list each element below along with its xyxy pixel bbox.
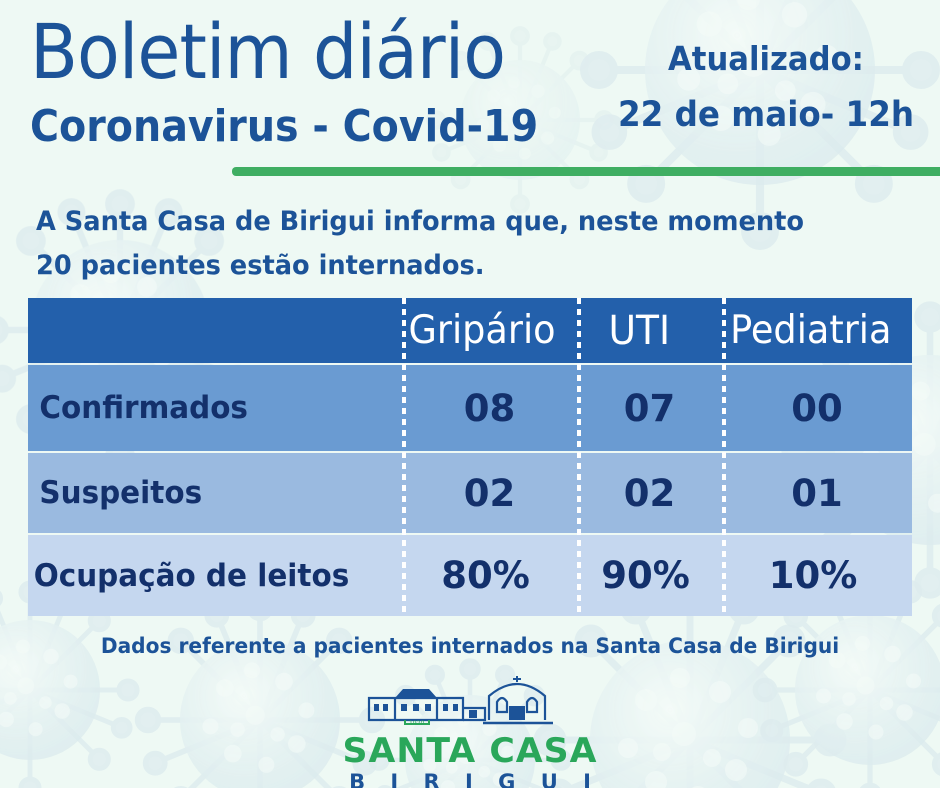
row-label-ocupacao: Ocupação de leitos	[28, 558, 380, 594]
cell-suspeitos-uti: 02	[577, 472, 722, 515]
logo-primary-text: SANTA CASA	[342, 732, 597, 770]
cell-confirmados-gripario: 08	[402, 387, 577, 430]
column-separator-3	[722, 298, 726, 616]
green-divider	[232, 167, 940, 176]
column-separator-1	[402, 298, 406, 616]
logo-building-year: 1920	[409, 720, 424, 727]
table-header-gripario: Gripário	[401, 308, 563, 353]
logo-secondary-text: B I R I G U I	[340, 770, 600, 788]
cell-confirmados-pediatria: 00	[722, 387, 912, 430]
table-header-uti: UTI	[572, 308, 706, 354]
page-title: Boletim diário	[30, 14, 505, 90]
table-row: Confirmados 08 07 00	[28, 365, 912, 451]
cell-ocupacao-pediatria: 10%	[718, 554, 908, 597]
table-header-row: Gripário UTI Pediatria	[28, 298, 912, 363]
cell-confirmados-uti: 07	[577, 387, 722, 430]
column-separator-2	[577, 298, 581, 616]
hospital-building-icon: 1920	[365, 676, 575, 732]
cell-suspeitos-pediatria: 01	[722, 472, 912, 515]
table-header-pediatria: Pediatria	[717, 308, 906, 353]
updated-timestamp: 22 de maio- 12h	[608, 96, 924, 134]
row-label-suspeitos: Suspeitos	[28, 475, 383, 511]
cell-ocupacao-gripario: 80%	[398, 554, 573, 597]
santa-casa-logo: 1920 SANTA CASA B I R I G U I	[0, 676, 940, 788]
table-row: Ocupação de leitos 80% 90% 10%	[28, 535, 912, 616]
page-subtitle: Coronavirus - Covid-19	[30, 104, 538, 150]
row-label-confirmados: Confirmados	[28, 390, 383, 426]
cell-suspeitos-gripario: 02	[402, 472, 577, 515]
poster-canvas: Boletim diário Coronavirus - Covid-19 At…	[0, 0, 940, 788]
occupancy-table: Gripário UTI Pediatria Confirmados 08 07…	[28, 298, 912, 616]
footnote-text: Dados referente a pacientes internados n…	[19, 634, 921, 658]
cell-ocupacao-uti: 90%	[573, 554, 718, 597]
updated-label: Atualizado:	[617, 42, 915, 76]
table-row: Suspeitos 02 02 01	[28, 453, 912, 533]
intro-text: A Santa Casa de Birigui informa que, nes…	[36, 200, 844, 288]
